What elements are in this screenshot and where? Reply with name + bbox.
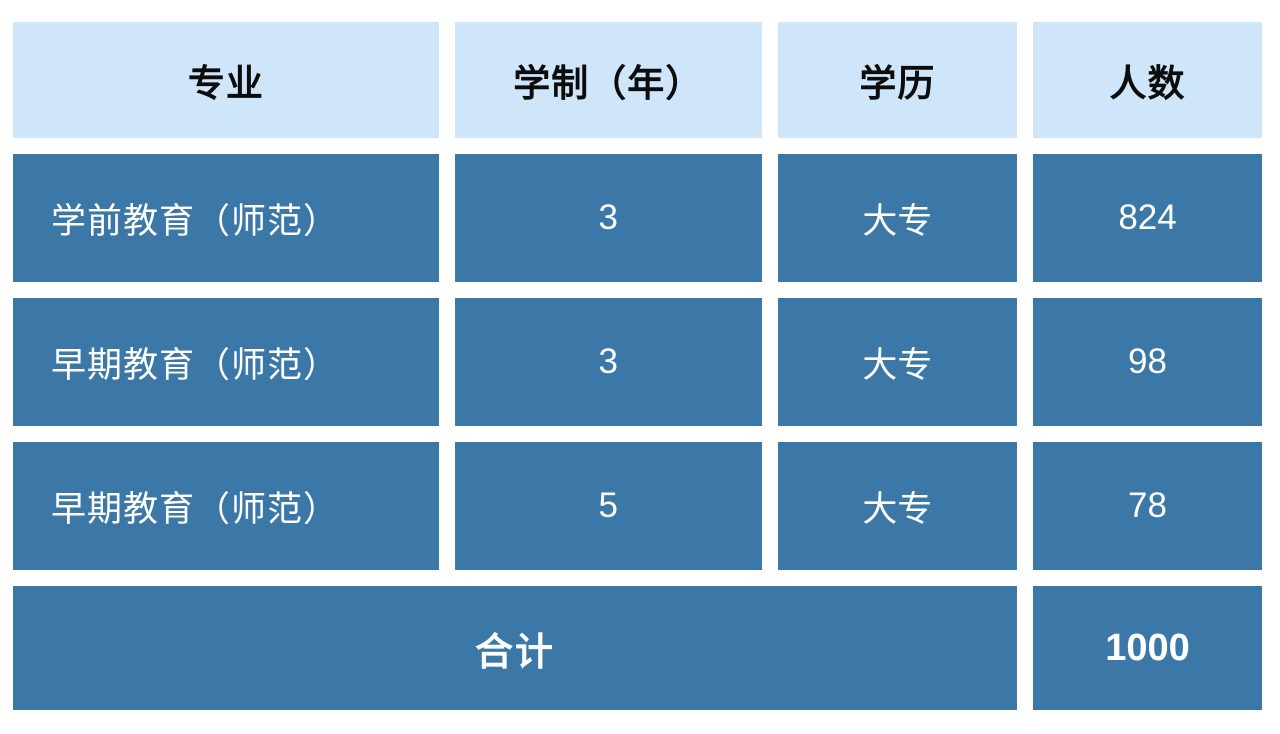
table-row: 学前教育（师范） 3 大专 824	[13, 154, 1262, 298]
table-row: 早期教育（师范） 5 大专 78	[13, 442, 1262, 586]
column-header-years: 学制（年）	[455, 22, 778, 154]
enrollment-table: 专业 学制（年） 学历 人数 学前教育（师范） 3 大专 824 早期教育（师范…	[13, 22, 1262, 710]
table-total-row: 合计 1000	[13, 586, 1262, 710]
cell-degree: 大专	[778, 154, 1033, 298]
cell-degree: 大专	[778, 298, 1033, 442]
table-header: 专业 学制（年） 学历 人数	[13, 22, 1262, 154]
table-body: 学前教育（师范） 3 大专 824 早期教育（师范） 3 大专 98 早期教育（…	[13, 154, 1262, 710]
cell-count: 78	[1033, 442, 1262, 586]
cell-major: 早期教育（师范）	[13, 442, 455, 586]
cell-years: 3	[455, 298, 778, 442]
cell-major: 早期教育（师范）	[13, 298, 455, 442]
total-label: 合计	[13, 586, 1033, 710]
cell-years: 5	[455, 442, 778, 586]
total-value: 1000	[1033, 586, 1262, 710]
column-header-degree: 学历	[778, 22, 1033, 154]
enrollment-table-container: 专业 学制（年） 学历 人数 学前教育（师范） 3 大专 824 早期教育（师范…	[13, 22, 1262, 712]
table-header-row: 专业 学制（年） 学历 人数	[13, 22, 1262, 154]
column-header-major: 专业	[13, 22, 455, 154]
cell-years: 3	[455, 154, 778, 298]
table-row: 早期教育（师范） 3 大专 98	[13, 298, 1262, 442]
cell-major: 学前教育（师范）	[13, 154, 455, 298]
cell-count: 824	[1033, 154, 1262, 298]
cell-degree: 大专	[778, 442, 1033, 586]
cell-count: 98	[1033, 298, 1262, 442]
column-header-count: 人数	[1033, 22, 1262, 154]
